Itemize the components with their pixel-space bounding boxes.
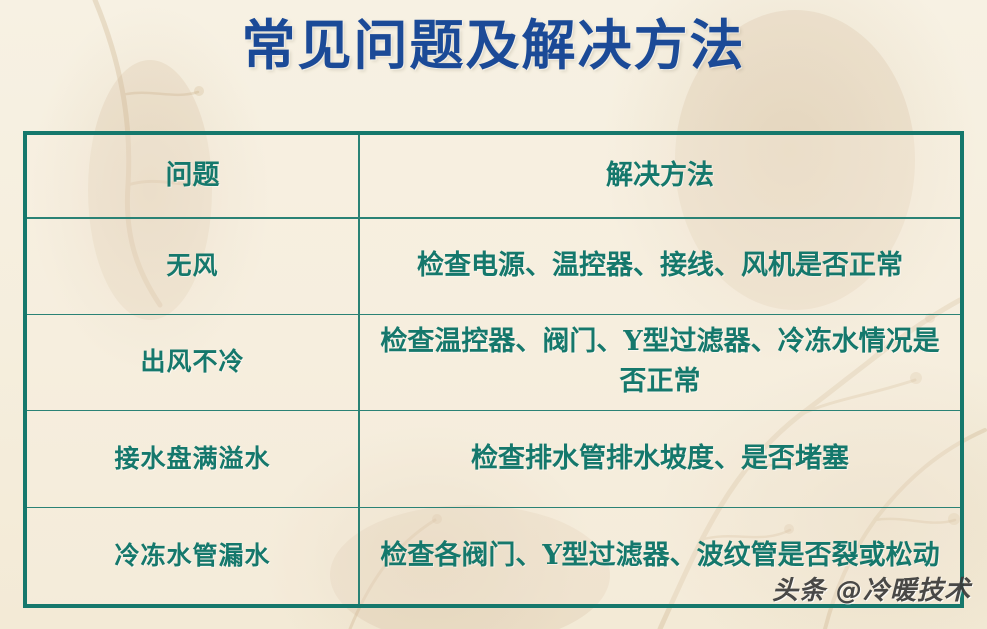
page-title: 常见问题及解决方法 [0,6,987,84]
cell-problem: 接水盘满溢水 [27,411,359,508]
cell-solution: 检查电源、温控器、接线、风机是否正常 [359,218,960,315]
cell-solution: 检查温控器、阀门、Y型过滤器、冷冻水情况是否正常 [359,314,960,411]
table-row[interactable]: 无风 检查电源、温控器、接线、风机是否正常 [27,218,960,315]
table-row[interactable]: 接水盘满溢水 检查排水管排水坡度、是否堵塞 [27,411,960,508]
cell-problem: 出风不冷 [27,314,359,411]
column-header-problem: 问题 [27,135,359,218]
watermark-text: 头条 @冷暖技术 [772,570,971,607]
cell-problem: 无风 [27,218,359,315]
qa-table: 问题 解决方法 无风 检查电源、温控器、接线、风机是否正常 出风不冷 检查温控器… [27,135,960,604]
column-header-solution: 解决方法 [359,135,960,218]
table-header-row: 问题 解决方法 [27,135,960,218]
cell-solution: 检查排水管排水坡度、是否堵塞 [359,411,960,508]
table-row[interactable]: 出风不冷 检查温控器、阀门、Y型过滤器、冷冻水情况是否正常 [27,314,960,411]
slide-root: 常见问题及解决方法 问题 解决方法 无风 检查电源、温控器、接线、风机是否正常 … [0,0,987,629]
qa-table-container: 问题 解决方法 无风 检查电源、温控器、接线、风机是否正常 出风不冷 检查温控器… [23,131,964,608]
cell-problem: 冷冻水管漏水 [27,507,359,604]
